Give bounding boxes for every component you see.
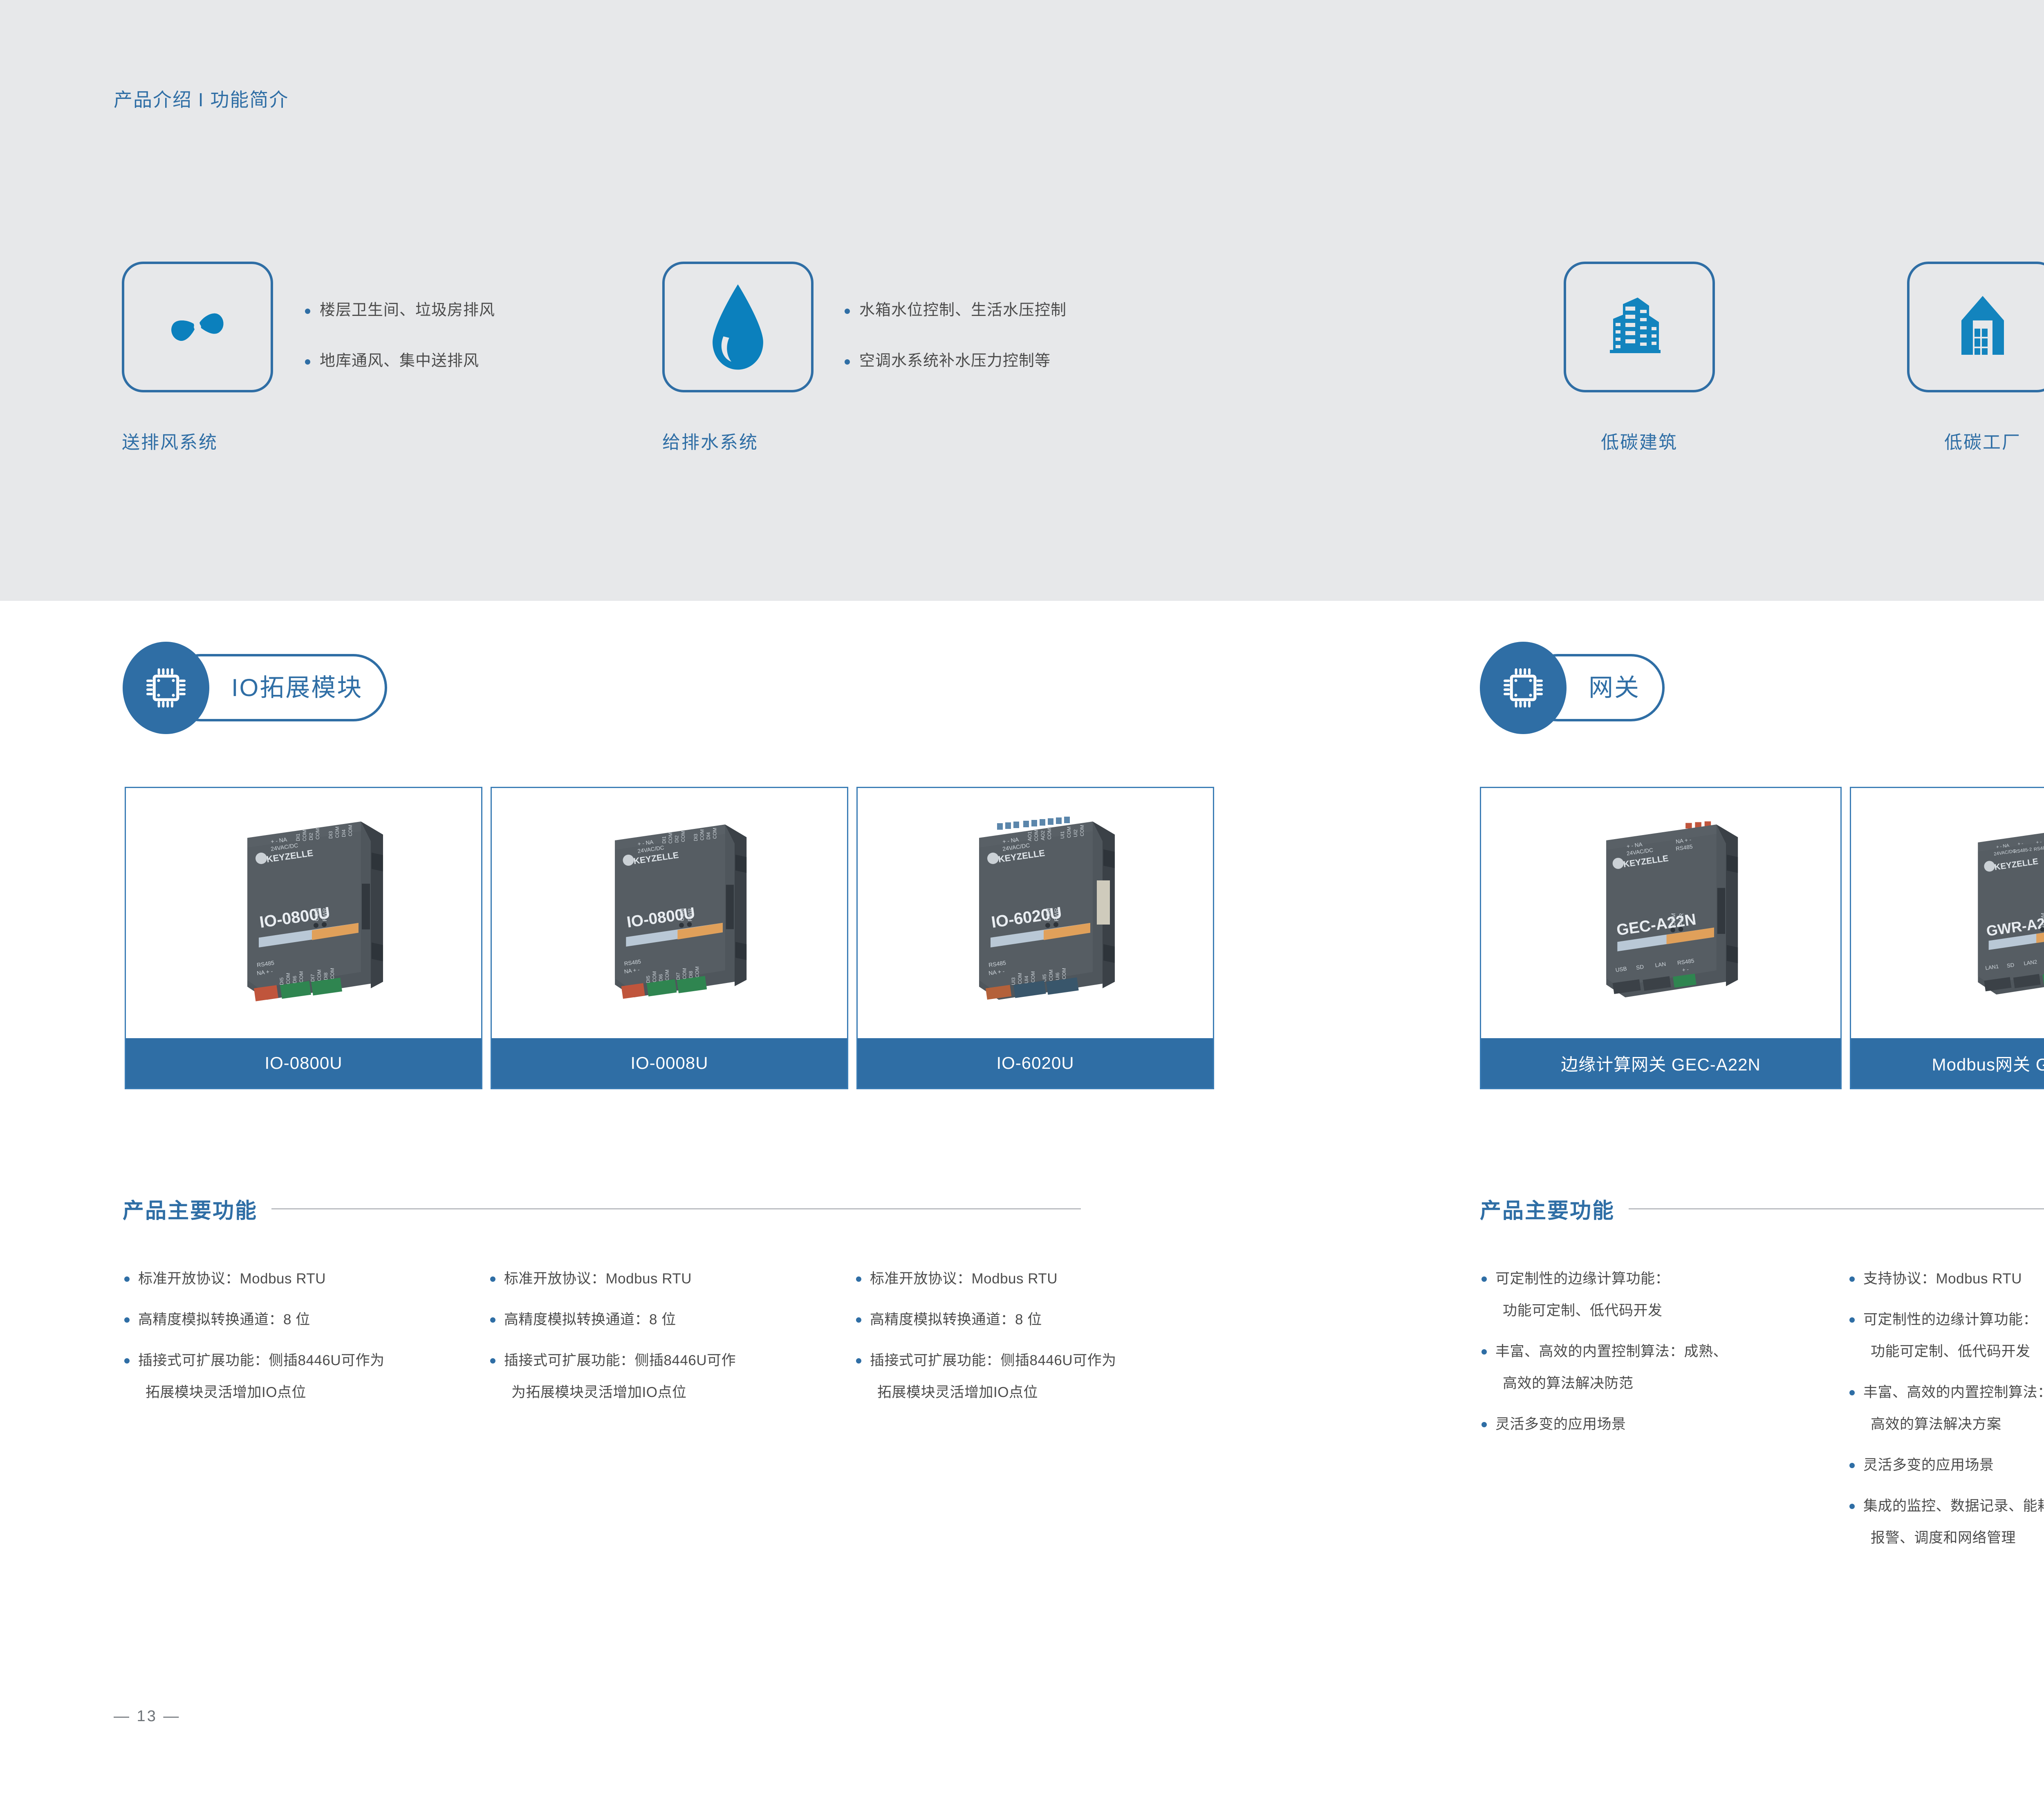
function-item: 灵活多变的应用场景 bbox=[1480, 1408, 1831, 1440]
function-text: 标准开放协议：Modbus RTU bbox=[138, 1271, 326, 1287]
function-item: 高精度模拟转换通道：8 位 bbox=[854, 1304, 1214, 1336]
function-item: 插接式可扩展功能：侧插8446U可作为 拓展模块灵活增加IO点位 bbox=[123, 1345, 474, 1408]
functions-column: 标准开放协议：Modbus RTU 高精度模拟转换通道：8 位 插接式可扩展功能… bbox=[489, 1263, 840, 1417]
svg-text:COM: COM bbox=[302, 830, 307, 841]
factory-icon bbox=[1942, 286, 2024, 368]
scenario-ventilation-bullets: 楼层卫生间、垃圾房排风 地库通风、集中送排风 bbox=[303, 302, 495, 404]
function-text: 支持协议：Modbus RTU bbox=[1863, 1271, 2022, 1287]
svg-text:COM: COM bbox=[665, 970, 670, 981]
svg-text:COM: COM bbox=[699, 829, 705, 840]
bullet-item: 地库通风、集中送排风 bbox=[303, 353, 495, 369]
function-text: 插接式可扩展功能：侧插8446U可作为 bbox=[138, 1352, 385, 1368]
product-image: GWR-A25N KEYZELLE + - NA + - + - + - + -… bbox=[1851, 788, 2044, 1038]
bullet-item: 楼层卫生间、垃圾房排风 bbox=[303, 302, 495, 318]
svg-text:COM: COM bbox=[316, 970, 322, 981]
function-item: 支持协议：Modbus RTU bbox=[1848, 1263, 2044, 1295]
svg-text:COM: COM bbox=[313, 908, 320, 921]
function-text: 标准开放协议：Modbus RTU bbox=[870, 1271, 1058, 1287]
section-title: 网关 bbox=[1589, 676, 1640, 700]
svg-text:COM: COM bbox=[2040, 913, 2044, 925]
chip-icon bbox=[1480, 642, 1567, 734]
svg-text:COM: COM bbox=[1079, 825, 1085, 836]
product-caption: IO-6020U bbox=[858, 1038, 1213, 1088]
fan-icon-frame bbox=[122, 262, 273, 392]
function-text: 灵活多变的应用场景 bbox=[1495, 1416, 1626, 1432]
svg-text:COM: COM bbox=[285, 973, 291, 984]
product-caption: IO-0008U bbox=[492, 1038, 847, 1088]
scenario-water-supply: 给排水系统 bbox=[662, 262, 814, 454]
device-gwr-a25n-illustration: GWR-A25N KEYZELLE + - NA + - + - + - + -… bbox=[1904, 805, 2044, 1021]
function-item: 标准开放协议：Modbus RTU bbox=[489, 1263, 840, 1295]
svg-text:DI6: DI6 bbox=[658, 974, 663, 981]
header-left: 产品介绍 I 功能简介 bbox=[114, 85, 289, 112]
product-card[interactable]: GWR-A25N KEYZELLE + - NA + - + - + - + -… bbox=[1850, 787, 2044, 1089]
function-text: 可定制性的边缘计算功能： bbox=[1863, 1312, 2037, 1328]
target-label: 低碳工厂 bbox=[1907, 428, 2044, 454]
function-text-cont: 拓展模块灵活增加IO点位 bbox=[870, 1377, 1214, 1408]
water-drop-icon-frame bbox=[662, 262, 814, 392]
svg-text:UI3: UI3 bbox=[1011, 977, 1016, 985]
divider-rule bbox=[271, 1208, 1081, 1209]
bullet-item: 空调水系统补水压力控制等 bbox=[842, 353, 1067, 369]
top-scenario-band bbox=[0, 0, 2044, 601]
svg-text:DI7: DI7 bbox=[310, 974, 316, 982]
svg-text:DI6: DI6 bbox=[292, 976, 298, 983]
svg-text:COM: COM bbox=[695, 966, 700, 977]
functions-title: 产品主要功能 bbox=[1480, 1193, 1615, 1224]
svg-text:DI8: DI8 bbox=[323, 972, 329, 980]
device-io-6020u-illustration: IO-6020U KEYZELLE + - NA 24VAC/DC AO1 CO… bbox=[901, 799, 1170, 1028]
target-low-carbon-factory: 低碳工厂 bbox=[1907, 262, 2044, 454]
function-text: 集成的监控、数据记录、能耗计量、 bbox=[1863, 1498, 2044, 1514]
svg-text:DI5: DI5 bbox=[645, 976, 651, 983]
product-caption: IO-0800U bbox=[126, 1038, 481, 1088]
svg-text:COM: COM bbox=[334, 826, 340, 838]
svg-text:UI5: UI5 bbox=[1042, 974, 1047, 982]
svg-text:COM: COM bbox=[298, 971, 304, 983]
function-item: 标准开放协议：Modbus RTU bbox=[854, 1263, 1214, 1295]
function-text: 插接式可扩展功能：侧插8446U可作为 bbox=[870, 1352, 1116, 1368]
functions-column: 支持协议：Modbus RTU 可定制性的边缘计算功能： 功能可定制、低代码开发… bbox=[1848, 1263, 2044, 1563]
product-card[interactable]: IO-0800U KEYZELLE + - NA 24VAC/DC DI1 CO… bbox=[491, 787, 848, 1089]
svg-text:DI3: DI3 bbox=[693, 833, 698, 841]
function-text-cont: 功能可定制、低代码开发 bbox=[1495, 1295, 1831, 1327]
svg-text:DI1: DI1 bbox=[661, 836, 667, 843]
svg-text:DI2: DI2 bbox=[674, 835, 679, 842]
target-label: 低碳建筑 bbox=[1564, 428, 1715, 454]
svg-text:COM: COM bbox=[680, 831, 686, 842]
function-item: 标准开放协议：Modbus RTU bbox=[123, 1263, 474, 1295]
svg-text:COM: COM bbox=[347, 825, 353, 836]
product-card[interactable]: IO-6020U KEYZELLE + - NA 24VAC/DC AO1 CO… bbox=[856, 787, 1214, 1089]
divider-rule bbox=[1629, 1208, 2044, 1209]
svg-text:COM: COM bbox=[1061, 968, 1067, 979]
svg-text:AO1: AO1 bbox=[1027, 831, 1033, 841]
function-item: 插接式可扩展功能：侧插8446U可作为 拓展模块灵活增加IO点位 bbox=[854, 1345, 1214, 1408]
function-item: 可定制性的边缘计算功能： 功能可定制、低代码开发 bbox=[1480, 1263, 1831, 1327]
function-item: 丰富、高效的内置控制算法：成熟、 高效的算法解决防范 bbox=[1480, 1336, 1831, 1399]
function-text: 插接式可扩展功能：侧插8446U可作 bbox=[504, 1352, 736, 1368]
scenario-label: 送排风系统 bbox=[122, 428, 273, 454]
scenario-water-supply-bullets: 水箱水位控制、生活水压控制 空调水系统补水压力控制等 bbox=[842, 302, 1067, 404]
function-item: 集成的监控、数据记录、能耗计量、 报警、调度和网络管理 bbox=[1848, 1490, 2044, 1554]
svg-text:COM: COM bbox=[1033, 830, 1039, 841]
svg-text:SD: SD bbox=[2006, 962, 2015, 969]
device-io-0800u-illustration: IO-0800U KEYZELLE + - NA 24VAC/DC DI1 CO… bbox=[169, 799, 439, 1028]
function-item: 灵活多变的应用场景 bbox=[1848, 1449, 2044, 1481]
chip-icon bbox=[123, 642, 209, 734]
brochure-spread: 产品介绍 I 功能简介 产品介绍 I 功能简介 送排风系统 楼层卫生间、垃圾房排… bbox=[0, 0, 2044, 1798]
svg-text:COM: COM bbox=[1048, 970, 1054, 981]
svg-text:COM: COM bbox=[1045, 908, 1051, 921]
function-text-cont: 功能可定制、低代码开发 bbox=[1863, 1336, 2044, 1368]
svg-text:COM: COM bbox=[712, 828, 717, 839]
functions-column: 可定制性的边缘计算功能： 功能可定制、低代码开发 丰富、高效的内置控制算法：成熟… bbox=[1480, 1263, 1831, 1449]
office-building-icon-frame bbox=[1564, 262, 1715, 392]
target-low-carbon-building: 低碳建筑 bbox=[1564, 262, 1715, 454]
function-item: 高精度模拟转换通道：8 位 bbox=[123, 1304, 474, 1336]
svg-text:UI4: UI4 bbox=[1024, 976, 1029, 983]
section-header-gateways: 网关 bbox=[1480, 642, 1733, 736]
svg-text:SD: SD bbox=[1636, 963, 1644, 971]
product-card[interactable]: GEC-A22N KEYZELLE + - NA 24VAC/DC NA + -… bbox=[1480, 787, 1842, 1089]
function-text: 高精度模拟转换通道：8 位 bbox=[138, 1312, 310, 1328]
function-text: 标准开放协议：Modbus RTU bbox=[504, 1271, 692, 1287]
function-text-cont: 高效的算法解决方案 bbox=[1863, 1408, 2044, 1440]
fan-icon bbox=[155, 284, 240, 370]
svg-text:DI2: DI2 bbox=[308, 833, 314, 840]
section-title: IO拓展模块 bbox=[231, 676, 363, 700]
svg-text:AO2: AO2 bbox=[1040, 831, 1046, 840]
function-item: 丰富、高效的内置控制算法：成熟、 高效的算法解决方案 bbox=[1848, 1377, 2044, 1440]
svg-text:+ -: + - bbox=[2017, 841, 2023, 847]
page-number-left: — 13 — bbox=[114, 1708, 180, 1725]
svg-text:COM: COM bbox=[1066, 826, 1072, 838]
svg-text:COM: COM bbox=[1017, 973, 1023, 984]
svg-text:DI7: DI7 bbox=[676, 972, 681, 980]
device-gec-a22n-illustration: GEC-A22N KEYZELLE + - NA 24VAC/DC NA + -… bbox=[1530, 802, 1792, 1025]
function-text: 灵活多变的应用场景 bbox=[1863, 1457, 1994, 1473]
section-header-io-modules: IO拓展模块 bbox=[123, 642, 433, 736]
svg-text:COM: COM bbox=[1030, 971, 1036, 983]
functions-heading-io: 产品主要功能 bbox=[123, 1193, 1214, 1224]
product-image: IO-0800U KEYZELLE + - NA 24VAC/DC DI1 CO… bbox=[492, 788, 847, 1038]
svg-text:DI5: DI5 bbox=[279, 977, 285, 985]
function-text: 高精度模拟转换通道：8 位 bbox=[870, 1312, 1042, 1328]
function-text-cont: 为拓展模块灵活增加IO点位 bbox=[504, 1377, 840, 1408]
functions-heading-gateway: 产品主要功能 bbox=[1480, 1193, 2044, 1224]
svg-text:PWR: PWR bbox=[1678, 913, 1684, 926]
function-text-cont: 高效的算法解决防范 bbox=[1495, 1368, 1831, 1399]
product-image: IO-6020U KEYZELLE + - NA 24VAC/DC AO1 CO… bbox=[858, 788, 1213, 1038]
bullet-item: 水箱水位控制、生活水压控制 bbox=[842, 302, 1067, 318]
product-card[interactable]: IO-0800U KEYZELLE + - NA 24VAC/DC DI1 CO… bbox=[125, 787, 482, 1089]
product-caption: 边缘计算网关 GEC-A22N bbox=[1481, 1038, 1840, 1088]
function-text: 丰富、高效的内置控制算法：成熟、 bbox=[1863, 1384, 2044, 1400]
chip-icon-glyph bbox=[1499, 663, 1548, 712]
svg-text:COM: COM bbox=[1670, 913, 1676, 926]
function-item: 可定制性的边缘计算功能： 功能可定制、低代码开发 bbox=[1848, 1304, 2044, 1368]
function-text: 丰富、高效的内置控制算法：成熟、 bbox=[1495, 1343, 1728, 1359]
svg-text:PWR: PWR bbox=[1053, 908, 1060, 921]
function-text: 高精度模拟转换通道：8 位 bbox=[504, 1312, 676, 1328]
scenario-label: 给排水系统 bbox=[662, 428, 814, 454]
svg-text:DI8: DI8 bbox=[688, 971, 694, 978]
svg-text:UI6: UI6 bbox=[1055, 972, 1060, 980]
svg-text:UI1: UI1 bbox=[1060, 831, 1065, 839]
svg-text:COM: COM bbox=[1047, 828, 1052, 840]
svg-text:COM: COM bbox=[315, 828, 320, 840]
svg-text:PWR: PWR bbox=[321, 908, 328, 921]
function-item: 插接式可扩展功能：侧插8446U可作 为拓展模块灵活增加IO点位 bbox=[489, 1345, 840, 1408]
scenario-ventilation: 送排风系统 bbox=[122, 262, 273, 454]
svg-text:DI4: DI4 bbox=[341, 829, 347, 837]
factory-icon-frame bbox=[1907, 262, 2044, 392]
product-image: GEC-A22N KEYZELLE + - NA 24VAC/DC NA + -… bbox=[1481, 788, 1840, 1038]
svg-text:+ -: + - bbox=[1681, 966, 1689, 973]
svg-text:PWR: PWR bbox=[687, 908, 693, 921]
svg-text:UI2: UI2 bbox=[1073, 829, 1078, 837]
function-item: 高精度模拟转换通道：8 位 bbox=[489, 1304, 840, 1336]
svg-text:DI4: DI4 bbox=[706, 832, 711, 840]
product-image: IO-0800U KEYZELLE + - NA 24VAC/DC DI1 CO… bbox=[126, 788, 481, 1038]
function-text-cont: 报警、调度和网络管理 bbox=[1863, 1522, 2044, 1554]
svg-text:COM: COM bbox=[652, 971, 657, 982]
office-building-icon bbox=[1598, 286, 1680, 368]
svg-text:COM: COM bbox=[329, 968, 335, 979]
svg-text:+ -: + - bbox=[2035, 840, 2042, 845]
svg-text:COM: COM bbox=[668, 832, 673, 843]
svg-text:COM: COM bbox=[679, 908, 685, 921]
svg-text:DI3: DI3 bbox=[328, 831, 334, 839]
product-caption: Modbus网关 GWR-A25N bbox=[1851, 1038, 2044, 1088]
chip-icon-glyph bbox=[141, 663, 191, 712]
functions-column: 标准开放协议：Modbus RTU 高精度模拟转换通道：8 位 插接式可扩展功能… bbox=[854, 1263, 1214, 1417]
function-text: 可定制性的边缘计算功能： bbox=[1495, 1271, 1670, 1287]
water-drop-icon bbox=[699, 280, 777, 374]
functions-title: 产品主要功能 bbox=[123, 1193, 258, 1224]
svg-text:COM: COM bbox=[682, 968, 687, 979]
svg-text:DI1: DI1 bbox=[295, 833, 301, 841]
function-text-cont: 拓展模块灵活增加IO点位 bbox=[138, 1377, 474, 1408]
device-io-0008u-illustration: IO-0800U KEYZELLE + - NA 24VAC/DC DI1 CO… bbox=[539, 802, 800, 1025]
functions-column: 标准开放协议：Modbus RTU 高精度模拟转换通道：8 位 插接式可扩展功能… bbox=[123, 1263, 474, 1417]
